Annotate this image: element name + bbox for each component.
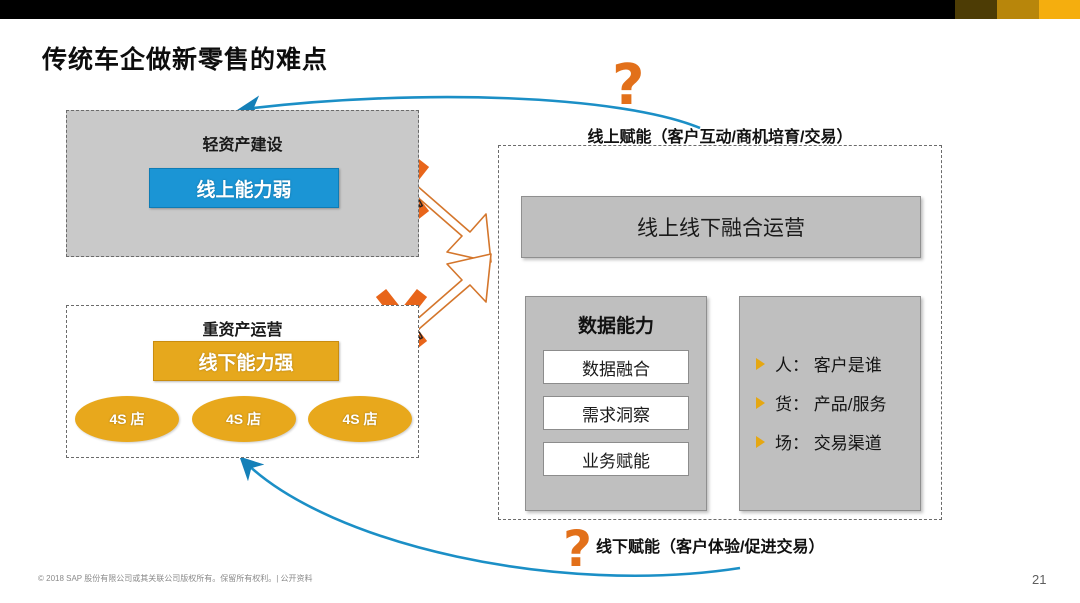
data-capability-item[interactable]: 业务赋能: [543, 442, 689, 476]
offline-enablement-header: 线下赋能（客户体验/促进交易）: [596, 533, 824, 557]
data-capability-item[interactable]: 需求洞察: [543, 396, 689, 430]
triangle-bullet-icon: [756, 397, 765, 409]
gold-bar-bright: [1039, 0, 1080, 19]
store-node[interactable]: 4S 店: [308, 396, 412, 442]
heavy-asset-capability-chip[interactable]: 线下能力强: [153, 341, 339, 381]
top-black-band: [0, 0, 1080, 19]
store-node[interactable]: 4S 店: [75, 396, 179, 442]
light-asset-capability-chip[interactable]: 线上能力弱: [149, 168, 339, 208]
light-asset-panel: 轻资产建设 线上能力弱: [66, 110, 419, 257]
copyright-note: © 2018 SAP 股份有限公司或其关联公司版权所有。保留所有权利。| 公开资…: [38, 573, 313, 584]
dimension-label: 人： 客户是谁: [775, 351, 882, 376]
dimension-row: 人： 客户是谁: [756, 351, 920, 376]
slide-canvas: 传统车企做新零售的难点 数据 数据 ? ?: [0, 0, 1080, 603]
data-capability-item[interactable]: 数据融合: [543, 350, 689, 384]
light-asset-title: 轻资产建设: [67, 131, 418, 155]
store-node[interactable]: 4S 店: [192, 396, 296, 442]
dimension-label: 货： 产品/服务: [775, 390, 886, 415]
gold-bar-mid: [997, 0, 1039, 19]
online-enablement-header: 线上赋能（客户互动/商机培育/交易）: [498, 123, 942, 147]
heavy-asset-panel: 重资产运营 线下能力强 4S 店 4S 店 4S 店: [66, 305, 419, 458]
data-capability-card: 数据能力 数据融合 需求洞察 业务赋能: [525, 296, 707, 511]
triangle-bullet-icon: [756, 436, 765, 448]
dimension-row: 货： 产品/服务: [756, 390, 920, 415]
retail-dimensions-card: 人： 客户是谁 货： 产品/服务 场： 交易渠道: [739, 296, 921, 511]
page-number: 21: [1032, 572, 1046, 587]
fusion-operations-card[interactable]: 线上线下融合运营: [521, 196, 921, 258]
triangle-bullet-icon: [756, 358, 765, 370]
gold-bar-dark: [955, 0, 997, 19]
dimension-label: 场： 交易渠道: [775, 429, 882, 454]
heavy-asset-title: 重资产运营: [67, 316, 418, 340]
data-capability-title: 数据能力: [526, 311, 706, 338]
store-list: 4S 店 4S 店 4S 店: [75, 396, 412, 442]
dimension-row: 场： 交易渠道: [756, 429, 920, 454]
page-title: 传统车企做新零售的难点: [42, 40, 328, 76]
question-mark-bottom: ?: [563, 524, 592, 574]
question-mark-top: ?: [612, 58, 644, 114]
online-enablement-panel: 线上线下融合运营 数据能力 数据融合 需求洞察 业务赋能 人： 客户是谁 货： …: [498, 145, 942, 520]
